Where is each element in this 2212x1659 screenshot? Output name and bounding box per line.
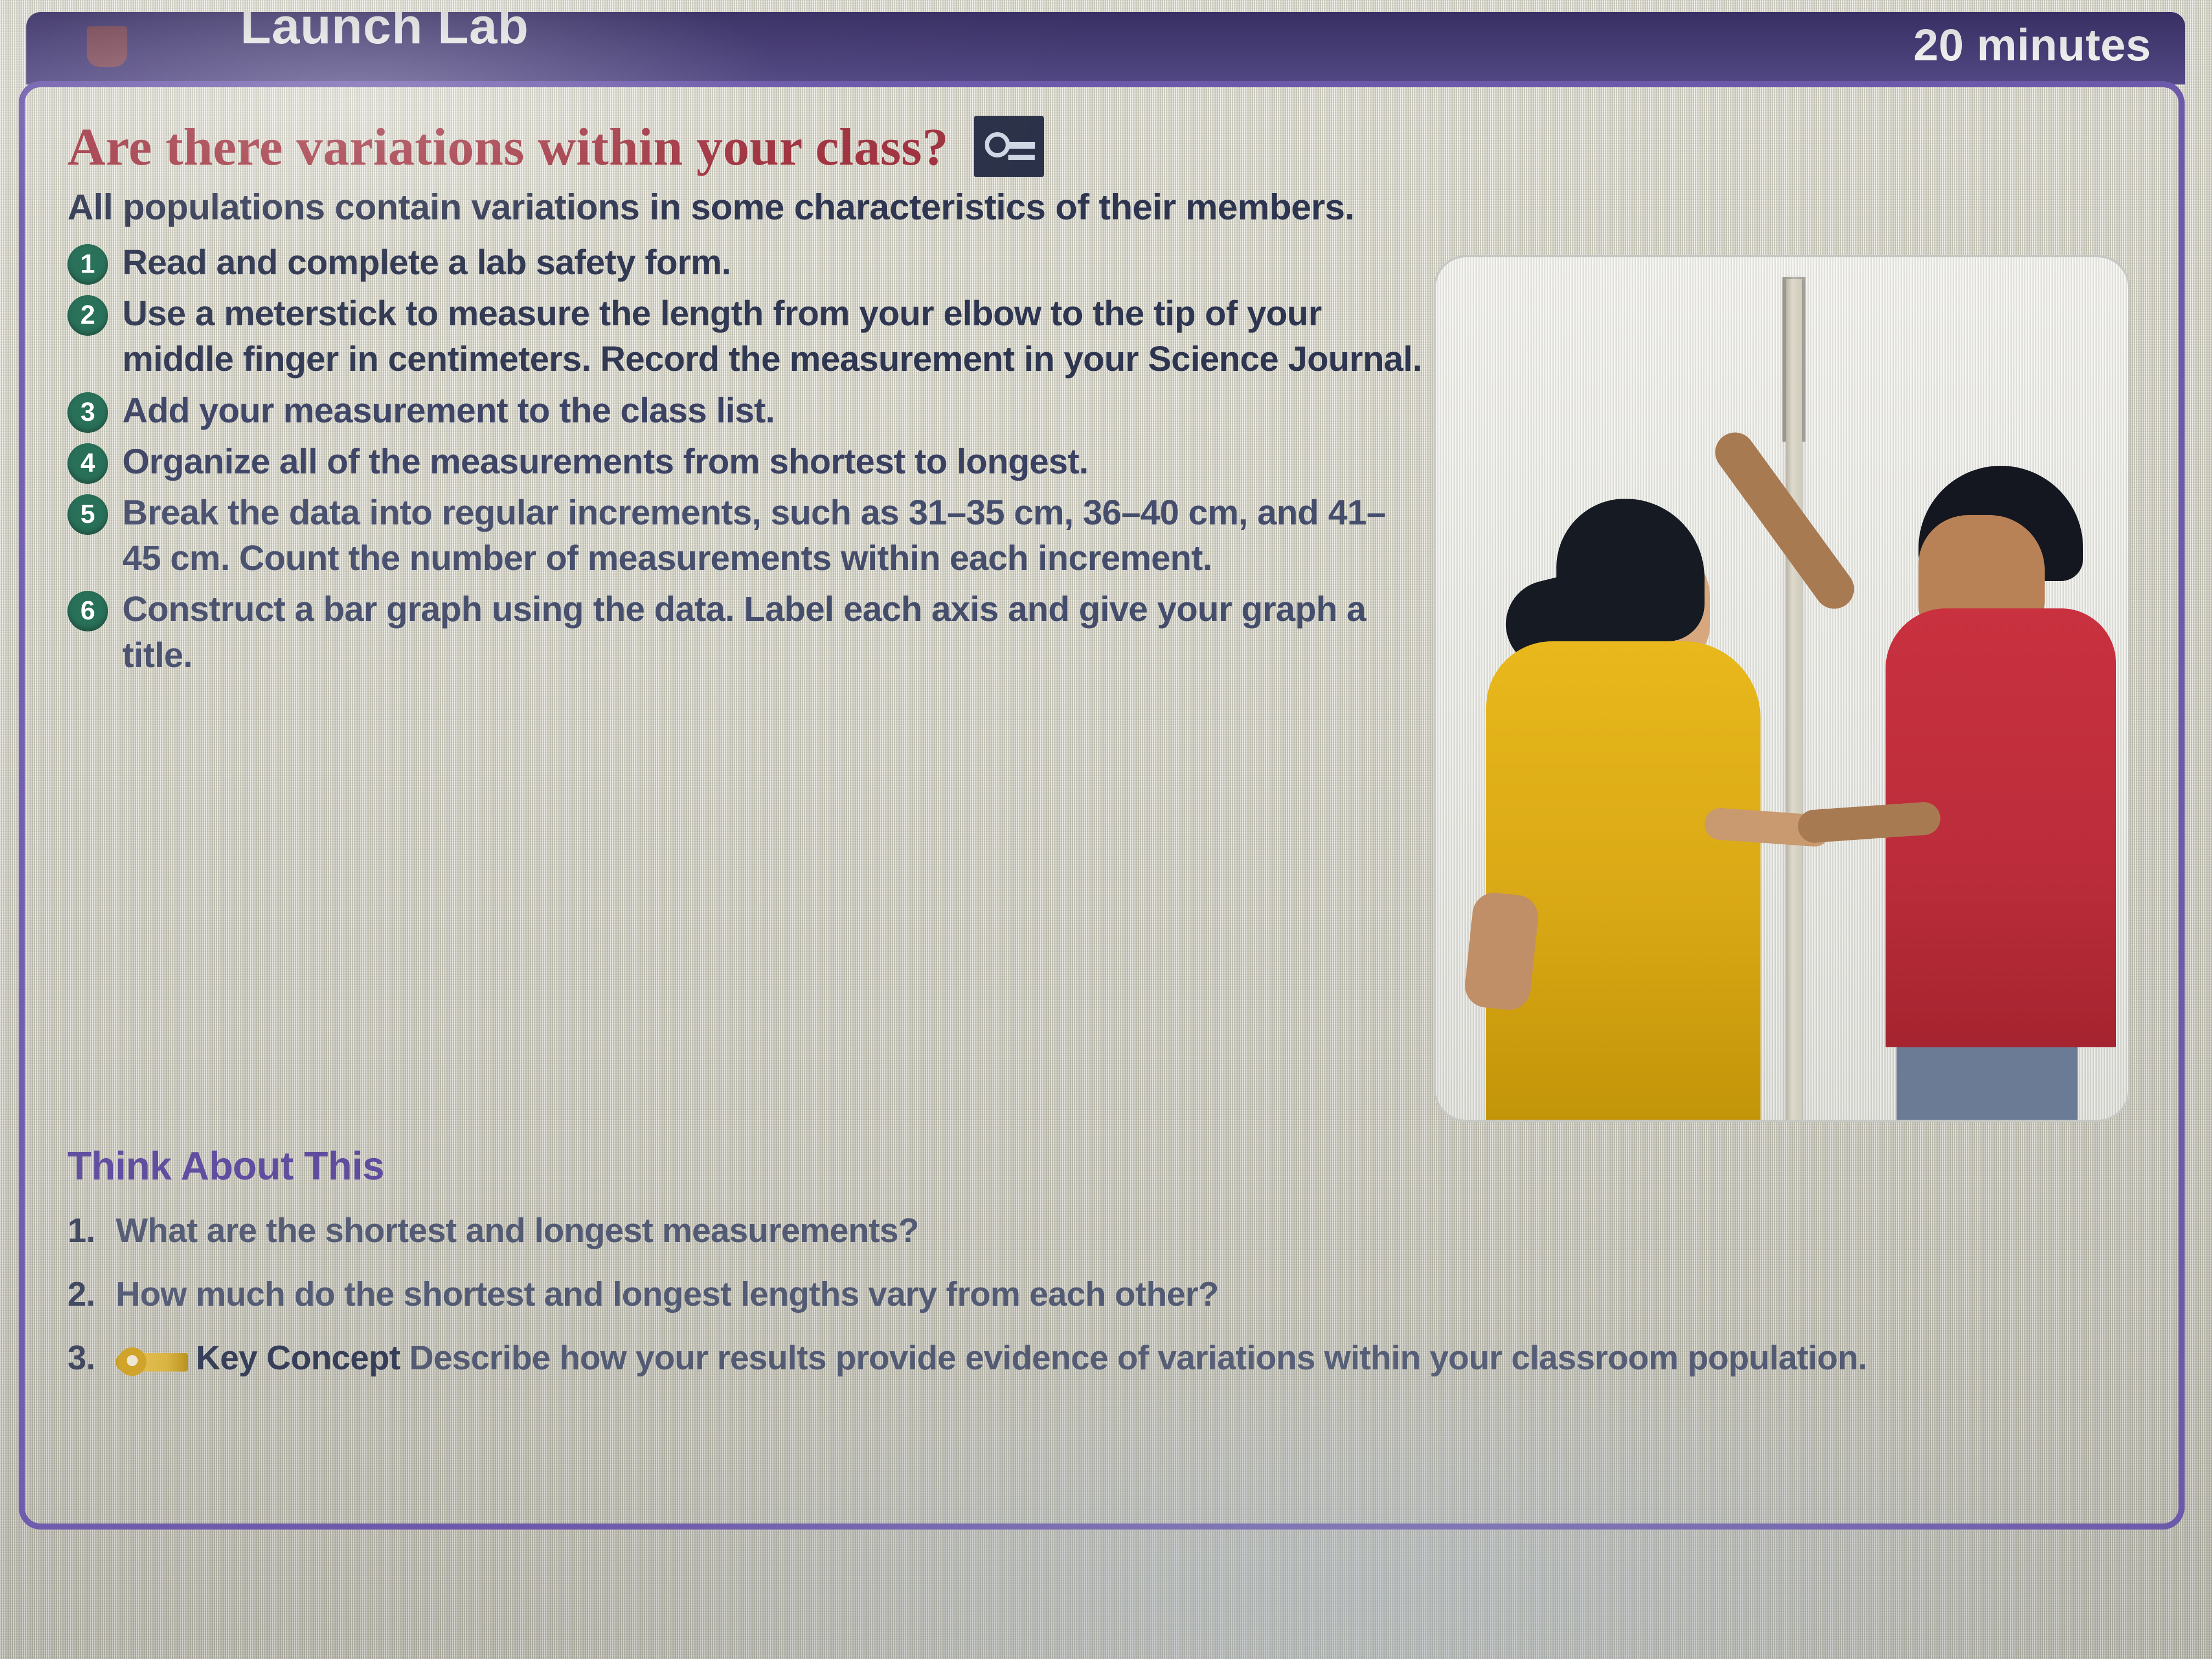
lab-title-row: Are there variations within your class? xyxy=(67,116,2139,177)
step-number-badge: 1 xyxy=(67,244,108,285)
question-number: 3. xyxy=(67,1337,99,1380)
key-concept-key-icon xyxy=(116,1353,188,1372)
meterstick-icon xyxy=(1786,279,1802,1122)
lab-step-2: 2 Use a meterstick to measure the length… xyxy=(67,291,1423,382)
key-concept-label: Key Concept xyxy=(196,1339,400,1377)
step-text-before: Use a xyxy=(122,294,224,333)
question-text: How much do the shortest and longest len… xyxy=(116,1273,2139,1316)
safety-goggles-icon xyxy=(974,116,1044,177)
lab-step-3: 3 Add your measurement to the class list… xyxy=(67,388,1423,433)
step-text: Use a meterstick to measure the length f… xyxy=(122,291,1423,382)
lab-step-4: 4 Organize all of the measurements from … xyxy=(67,439,1423,484)
lab-question-title: Are there variations within your class? xyxy=(67,116,949,177)
think-about-this-heading: Think About This xyxy=(67,1144,2139,1189)
step-text: Break the data into regular increments, … xyxy=(122,490,1423,581)
lab-step-6: 6 Construct a bar graph using the data. … xyxy=(67,586,1423,678)
question-number: 2. xyxy=(67,1273,99,1316)
lab-step-1: 1 Read and complete a lab safety form. xyxy=(67,240,1423,285)
lab-duration-badge: 20 minutes xyxy=(1914,20,2151,71)
step-number-badge: 2 xyxy=(67,295,108,336)
think-question-3: 3. Key Concept Describe how your results… xyxy=(67,1337,2139,1380)
think-question-1: 1. What are the shortest and longest mea… xyxy=(67,1210,2139,1252)
step-number-badge: 4 xyxy=(67,443,108,484)
question-text: Key Concept Describe how your results pr… xyxy=(116,1337,2139,1380)
lab-steps-list: 1 Read and complete a lab safety form. 2… xyxy=(67,240,1423,1122)
student-girl-lower-arm xyxy=(1463,890,1540,1012)
lab-body: 1 Read and complete a lab safety form. 2… xyxy=(67,240,2139,1122)
student-girl-hair xyxy=(1556,499,1705,641)
step-text: Construct a bar graph using the data. La… xyxy=(122,586,1423,678)
step-number-badge: 6 xyxy=(67,591,108,631)
student-boy-raised-arm xyxy=(1707,425,1862,617)
student-girl-shirt xyxy=(1486,641,1760,1122)
step-text: Organize all of the measurements from sh… xyxy=(122,439,1088,484)
launch-lab-header-bar: Launch Lab 20 minutes xyxy=(26,12,2185,84)
step-number-badge: 5 xyxy=(67,494,108,535)
launch-lab-flask-icon xyxy=(87,26,127,67)
lab-step-5: 5 Break the data into regular increments… xyxy=(67,490,1423,581)
lab-activity-card: Are there variations within your class? … xyxy=(19,81,2185,1530)
device-screen: Launch Lab 20 minutes Are there variatio… xyxy=(0,0,2212,1659)
question-text: What are the shortest and longest measur… xyxy=(116,1210,2139,1252)
lab-intro-text: All populations contain variations in so… xyxy=(67,186,2139,228)
question-body-text: Describe how your results provide eviden… xyxy=(409,1339,1867,1377)
step-bold-term: meterstick xyxy=(224,294,396,333)
students-measuring-photo xyxy=(1434,255,2130,1122)
question-number: 1. xyxy=(67,1210,99,1252)
launch-lab-label: Launch Lab xyxy=(240,12,529,55)
lab-photo-column xyxy=(1434,240,2139,1122)
think-question-2: 2. How much do the shortest and longest … xyxy=(67,1273,2139,1316)
step-number-badge: 3 xyxy=(67,392,108,433)
step-text: Read and complete a lab safety form. xyxy=(122,240,731,285)
step-text: Add your measurement to the class list. xyxy=(122,388,775,433)
